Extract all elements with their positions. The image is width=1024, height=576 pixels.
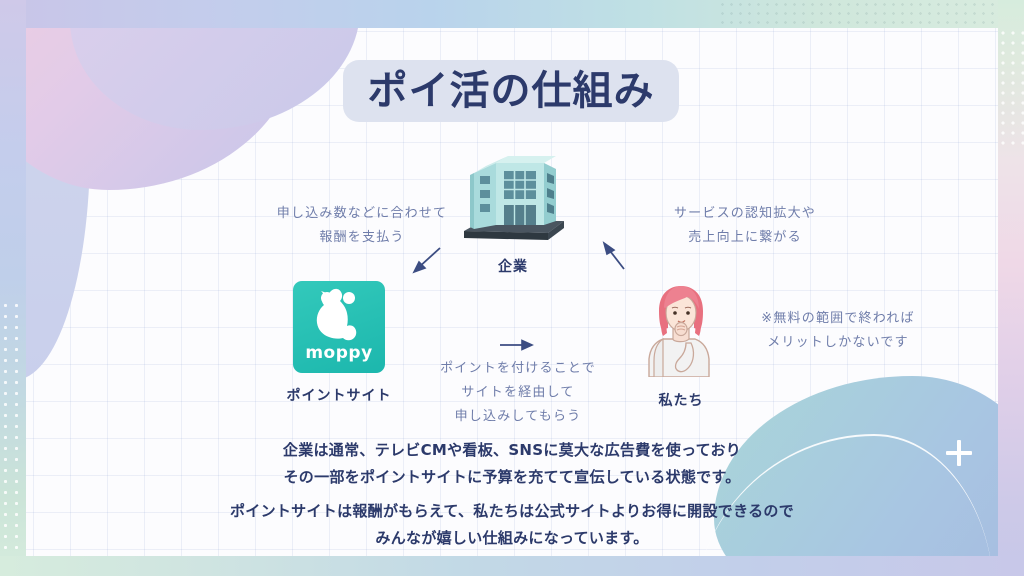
decor-dots-top	[718, 0, 998, 28]
node-company-label: 企業	[452, 256, 574, 276]
summary-paragraph-1: 企業は通常、テレビCMや看板、SNSに莫大な広告費を使っており その一部をポイン…	[0, 437, 1024, 491]
note-left-line2: 報酬を支払う	[250, 226, 474, 250]
page-title-text: ポイ活の仕組み	[368, 71, 655, 111]
decor-dots-right	[998, 28, 1024, 148]
summary-p2-line1: ポイントサイトは報酬がもらえて、私たちは公式サイトよりお得に開設できるので	[0, 498, 1024, 525]
page-title: ポイ活の仕組み	[343, 60, 679, 122]
summary-p1-line1: 企業は通常、テレビCMや看板、SNSに莫大な広告費を使っており	[0, 437, 1024, 464]
note-center-line2: サイトを経由して	[414, 381, 622, 405]
moppy-wordmark: moppy	[293, 343, 385, 363]
note-left-line1: 申し込み数などに合わせて	[250, 202, 474, 226]
thinking-woman-icon	[633, 277, 729, 377]
note-right-line1: サービスの認知拡大や	[645, 202, 845, 226]
node-user-label: 私たち	[633, 390, 729, 410]
summary-p1-line2: その一部をポイントサイトに予算を充てて宣伝している状態です。	[0, 464, 1024, 491]
arrow-site-to-user-icon	[498, 337, 538, 353]
note-left: 申し込み数などに合わせて 報酬を支払う	[250, 202, 474, 250]
note-right: サービスの認知拡大や 売上向上に繋がる	[645, 202, 845, 250]
node-point-site-label: ポイントサイト	[283, 385, 395, 405]
note-user: ※無料の範囲で終われば メリットしかないです	[740, 307, 936, 355]
moppy-logo-icon[interactable]: moppy	[293, 281, 385, 373]
note-center-line3: 申し込みしてもらう	[414, 405, 622, 429]
decor-band-bottom	[0, 556, 1024, 576]
arrow-user-to-company-icon	[600, 241, 634, 271]
note-center: ポイントを付けることで サイトを経由して 申し込みしてもらう	[414, 357, 622, 429]
note-center-line1: ポイントを付けることで	[414, 357, 622, 381]
slide-canvas: ポイ活の仕組み	[0, 0, 1024, 576]
summary-paragraph-2: ポイントサイトは報酬がもらえて、私たちは公式サイトよりお得に開設できるので みん…	[0, 498, 1024, 552]
node-point-site[interactable]: moppy ポイントサイト	[283, 281, 395, 405]
note-right-line2: 売上向上に繋がる	[645, 226, 845, 250]
note-user-line2: メリットしかないです	[740, 331, 936, 355]
note-user-line1: ※無料の範囲で終われば	[740, 307, 936, 331]
node-user: 私たち	[633, 277, 729, 410]
summary-p2-line2: みんなが嬉しい仕組みになっています。	[0, 525, 1024, 552]
